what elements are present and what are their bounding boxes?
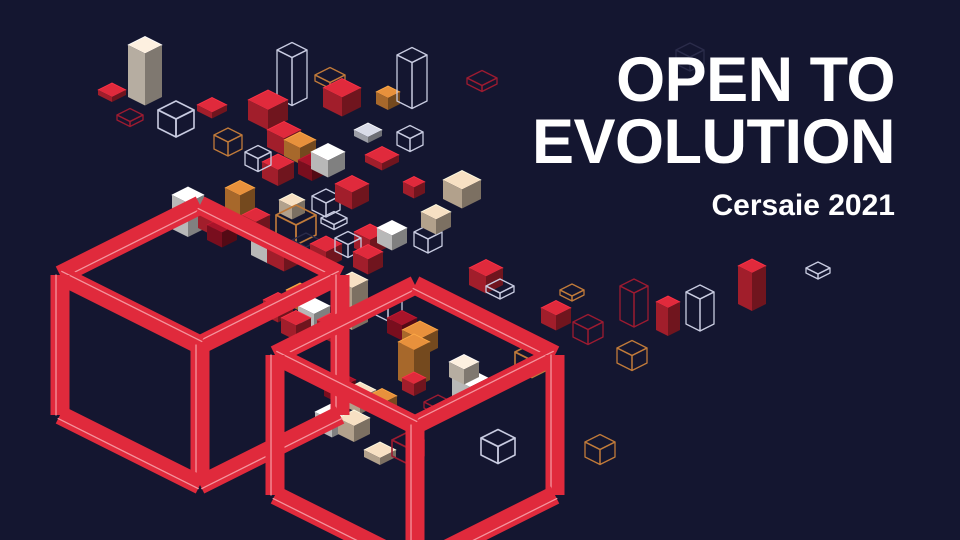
headline-line-1: OPEN TO [475,50,895,112]
face-left [128,45,145,106]
beam-vert-left [266,355,285,495]
beam-vert-center [191,345,210,485]
particle-prism [128,37,162,106]
event-subtitle: Cersaie 2021 [475,189,895,223]
beam-vert-right [546,355,565,495]
title-block: OPEN TO EVOLUTION Cersaie 2021 [475,50,895,223]
particle-prism [656,296,680,336]
beam-vert-center [406,425,425,540]
face-right [752,266,766,311]
beam-vert-left [51,275,70,415]
face-left [738,266,752,311]
poster-canvas: OPEN TO EVOLUTION Cersaie 2021 [0,0,960,540]
headline-line-2: EVOLUTION [475,112,895,174]
face-left [656,302,668,336]
particle-prism [738,259,766,311]
face-right [145,45,162,106]
face-right [668,302,680,336]
